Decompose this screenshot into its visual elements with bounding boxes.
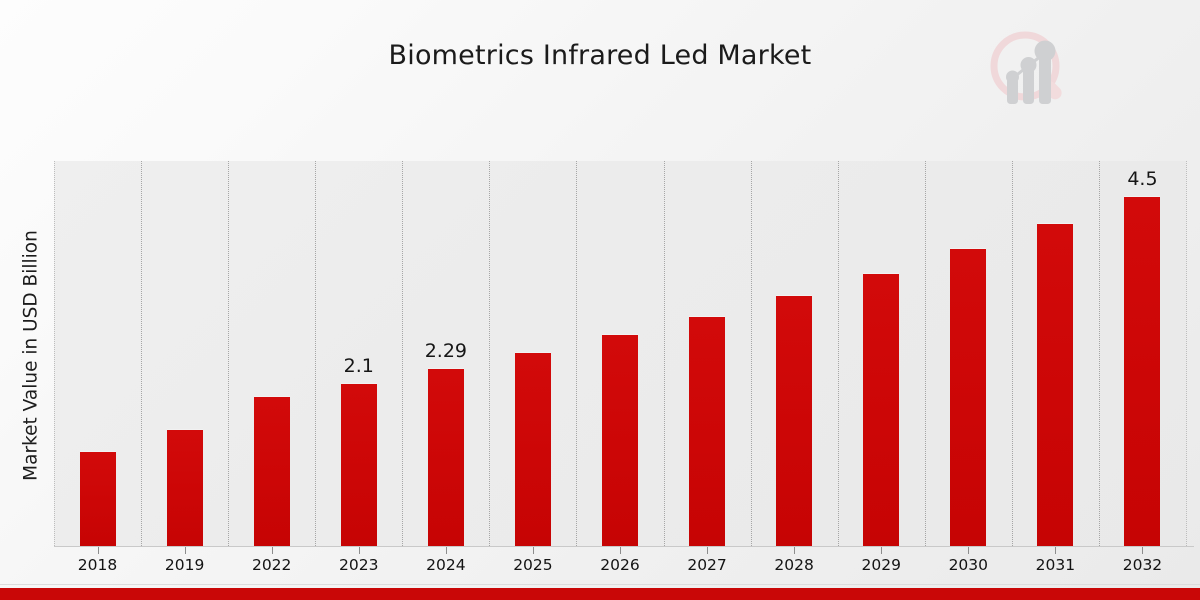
x-tick-mark-2018 [98,547,99,554]
x-axis-line [54,546,1194,547]
bar-2029[interactable] [863,273,899,546]
bar-2022[interactable] [254,396,290,546]
x-tick-label-2023: 2023 [319,556,399,574]
x-tick-mark-2031 [1055,547,1056,554]
x-tick-mark-2022 [272,547,273,554]
bar-2019[interactable] [167,429,203,546]
chart-figure: Biometrics Infrared Led Market Market Va… [0,0,1200,600]
x-tick-label-2025: 2025 [493,556,573,574]
x-tick-mark-2019 [185,547,186,554]
x-tick-mark-2030 [968,547,969,554]
x-tick-label-2027: 2027 [667,556,747,574]
market-research-magnifier-logo [985,28,1073,116]
bar-2030[interactable] [950,248,986,546]
gridline [1186,161,1188,546]
bar-value-label-2032: 4.5 [1107,168,1177,190]
bar-chart-glyph-icon [1006,41,1056,105]
bar-value-label-2023: 2.1 [324,355,394,377]
x-tick-mark-2025 [533,547,534,554]
plot-area [54,161,1186,546]
bar-2027[interactable] [689,316,725,546]
x-tick-mark-2026 [620,547,621,554]
gridline [925,161,927,546]
x-tick-label-2031: 2031 [1015,556,1095,574]
gridline [838,161,840,546]
x-tick-mark-2024 [446,547,447,554]
x-tick-label-2018: 2018 [58,556,138,574]
x-tick-mark-2032 [1142,547,1143,554]
bar-2018[interactable] [80,451,116,546]
gridline [315,161,317,546]
gridline [1099,161,1101,546]
bar-2028[interactable] [776,295,812,546]
bar-2023[interactable] [341,383,377,546]
x-tick-mark-2028 [794,547,795,554]
x-tick-label-2029: 2029 [841,556,921,574]
bar-2032[interactable] [1124,196,1160,546]
gridline [402,161,404,546]
bar-2026[interactable] [602,334,638,546]
gridline [228,161,230,546]
bar-value-label-2024: 2.29 [411,340,481,362]
gridline [1012,161,1014,546]
x-tick-label-2019: 2019 [145,556,225,574]
x-tick-label-2032: 2032 [1102,556,1182,574]
gridline [751,161,753,546]
gridline [664,161,666,546]
bar-2031[interactable] [1037,223,1073,546]
bar-2024[interactable] [428,368,464,546]
footer-divider [0,584,1200,585]
x-tick-mark-2027 [707,547,708,554]
gridline [54,161,56,546]
x-tick-label-2026: 2026 [580,556,660,574]
x-tick-mark-2029 [881,547,882,554]
y-axis-label: Market Value in USD Billion [21,161,42,551]
gridline [576,161,578,546]
x-tick-label-2030: 2030 [928,556,1008,574]
x-tick-label-2024: 2024 [406,556,486,574]
gridline [141,161,143,546]
x-tick-label-2028: 2028 [754,556,834,574]
gridline [489,161,491,546]
x-tick-label-2022: 2022 [232,556,312,574]
x-tick-mark-2023 [359,547,360,554]
bar-2025[interactable] [515,352,551,546]
footer-band [0,588,1200,600]
